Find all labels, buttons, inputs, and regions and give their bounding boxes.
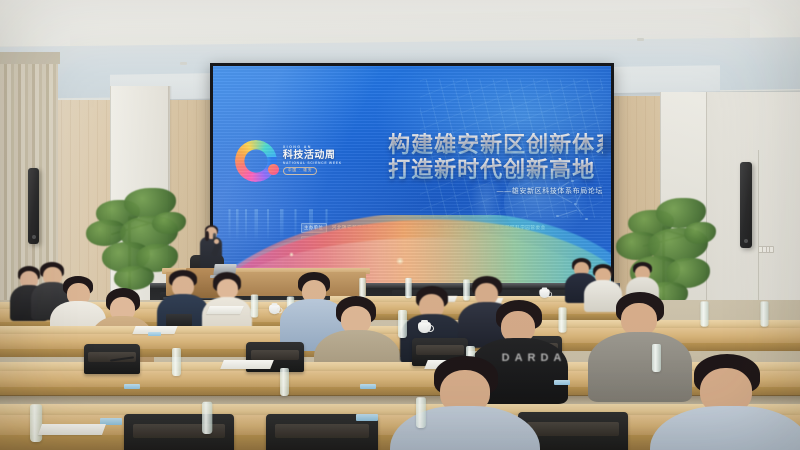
led-display-screen: XIONG AN 科技活动周 NATIONAL SCIENCE WEEK 中国 … xyxy=(210,63,614,292)
chair xyxy=(124,414,234,450)
water-bottle xyxy=(398,310,407,338)
screen-subtitle: ——雄安新区科技体系布局论坛 xyxy=(388,186,603,196)
water-bottle xyxy=(760,301,768,326)
handout-paper xyxy=(206,306,244,314)
place-card xyxy=(356,414,378,421)
logo-location-pill: 中国 · 雄安 xyxy=(283,167,318,175)
event-logo: XIONG AN 科技活动周 NATIONAL SCIENCE WEEK 中国 … xyxy=(235,140,342,182)
water-bottle xyxy=(700,301,708,326)
water-bottle xyxy=(558,307,566,332)
ring-logo-icon xyxy=(235,140,277,182)
tissue-box xyxy=(166,314,192,326)
wall-speaker-right xyxy=(740,162,752,248)
water-bottle xyxy=(405,278,411,298)
tshirt-graphic-text: DARDA xyxy=(486,352,582,364)
screenshot-canvas: XIONG AN 科技活动周 NATIONAL SCIENCE WEEK 中国 … xyxy=(0,0,800,450)
water-bottle xyxy=(30,404,42,442)
place-card xyxy=(124,384,140,389)
tea-cup xyxy=(269,305,280,314)
tea-cup xyxy=(539,289,549,298)
screen-title-block: 构建雄安新区创新体系 打造新时代创新高地 ——雄安新区科技体系布局论坛 xyxy=(388,133,603,196)
wall-switch-panel[interactable] xyxy=(758,246,774,253)
handout-paper xyxy=(220,360,274,369)
water-bottle xyxy=(280,368,289,396)
water-bottle xyxy=(416,397,426,428)
handout-paper xyxy=(38,424,106,435)
water-bottle xyxy=(202,402,212,434)
water-bottle xyxy=(463,280,470,301)
screen-title-line-1: 构建雄安新区创新体系 xyxy=(388,133,603,158)
logo-en-bottom: NATIONAL SCIENCE WEEK xyxy=(283,162,342,165)
place-card xyxy=(360,384,376,389)
screen-title-line-2: 打造新时代创新高地 xyxy=(388,158,603,183)
water-bottle xyxy=(652,344,661,372)
logo-cn-name: 科技活动周 xyxy=(283,151,342,161)
place-card xyxy=(148,332,161,336)
tea-cup xyxy=(418,322,431,333)
place-card xyxy=(554,380,570,385)
wall-speaker-left xyxy=(28,168,39,244)
water-bottle xyxy=(251,295,258,318)
water-bottle xyxy=(359,278,365,298)
water-bottle xyxy=(172,348,181,376)
